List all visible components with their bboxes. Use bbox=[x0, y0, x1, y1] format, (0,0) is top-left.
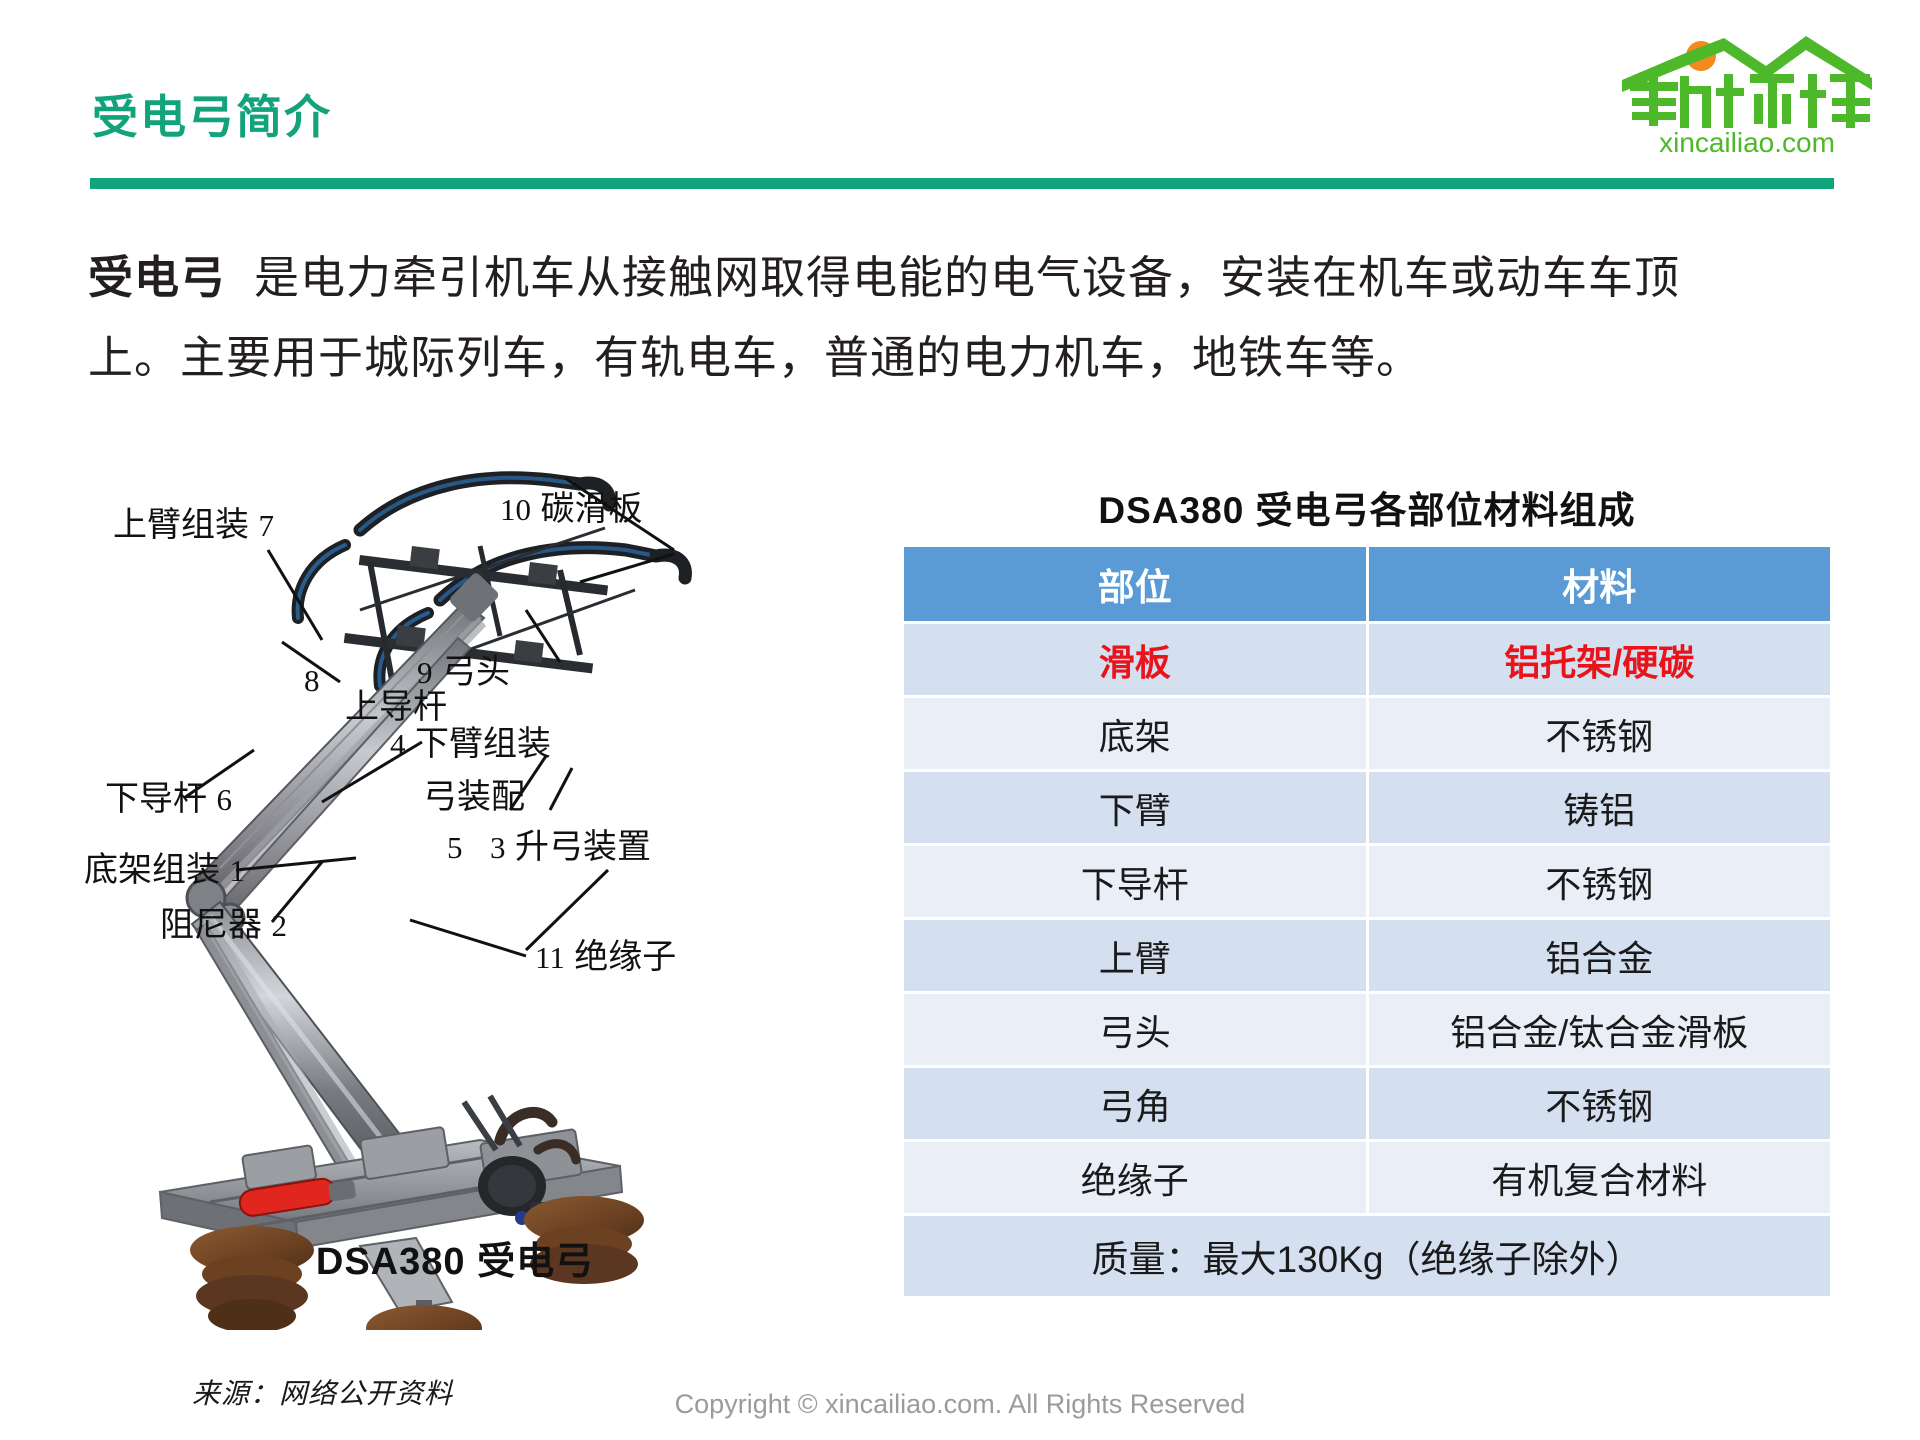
callout-bow-assembly: 弓装配 bbox=[423, 780, 525, 814]
cell-material: 铸铝 bbox=[1369, 772, 1831, 843]
cell-part: 弓头 bbox=[904, 994, 1366, 1065]
table-body: 滑板 铝托架/硬碳 底架 不锈钢 下臂 铸铝 下导杆 不锈钢 上臂 铝合金 弓头… bbox=[904, 624, 1830, 1296]
pantograph-figure: 上臂组装 7 10 碳滑板 9 弓头 8 上导杆 4 下臂组装 弓装配 5 3 … bbox=[60, 450, 870, 1330]
cell-material: 铝合金/钛合金滑板 bbox=[1369, 994, 1831, 1065]
insulator-center bbox=[366, 1300, 482, 1330]
column-header-material: 材料 bbox=[1369, 547, 1831, 621]
title-divider bbox=[90, 178, 1834, 189]
callout-damper: 阻尼器 2 bbox=[160, 908, 287, 942]
intro-body: 是电力牵引机车从接触网取得电能的电气设备，安装在机车或动车车顶上。主要用于城际列… bbox=[88, 252, 1680, 383]
callout-upper-rod-number: 8 bbox=[304, 663, 320, 697]
cell-part: 下导杆 bbox=[904, 846, 1366, 917]
cell-summary: 质量：最大130Kg（绝缘子除外） bbox=[904, 1216, 1830, 1296]
brand-logo: xincailiao.com bbox=[1616, 16, 1878, 161]
cell-material: 不锈钢 bbox=[1369, 698, 1831, 769]
table-row: 弓头 铝合金/钛合金滑板 bbox=[904, 994, 1830, 1065]
cell-material: 不锈钢 bbox=[1369, 1068, 1831, 1139]
callout-upper-rod: 上导杆 bbox=[345, 690, 447, 724]
callout-base-frame: 底架组装 1 bbox=[84, 853, 245, 887]
intro-paragraph: 受电弓是电力牵引机车从接触网取得电能的电气设备，安装在机车或动车车顶上。主要用于… bbox=[88, 238, 1768, 398]
callout-lower-arm: 4 下臂组装 bbox=[390, 727, 551, 761]
table-title: DSA380 受电弓各部位材料组成 bbox=[901, 480, 1833, 534]
table-row: 弓角 不锈钢 bbox=[904, 1068, 1830, 1139]
cell-part: 滑板 bbox=[904, 624, 1366, 695]
cell-part: 上臂 bbox=[904, 920, 1366, 991]
table-row: 上臂 铝合金 bbox=[904, 920, 1830, 991]
logo-url: xincailiao.com bbox=[1659, 127, 1835, 158]
material-composition-table: 部位 材料 滑板 铝托架/硬碳 底架 不锈钢 下臂 铸铝 下导杆 不锈钢 上臂 … bbox=[901, 544, 1833, 1299]
page-title: 受电弓简介 bbox=[92, 94, 332, 140]
cell-material: 不锈钢 bbox=[1369, 846, 1831, 917]
table-row: 下臂 铸铝 bbox=[904, 772, 1830, 843]
figure-caption: DSA380 受电弓 bbox=[60, 1230, 850, 1285]
cell-part: 底架 bbox=[904, 698, 1366, 769]
cell-part: 弓角 bbox=[904, 1068, 1366, 1139]
copyright-note: Copyright © xincailiao.com. All Rights R… bbox=[0, 1389, 1920, 1420]
callout-lower-rod: 下导杆 6 bbox=[105, 782, 232, 816]
table-row: 绝缘子 有机复合材料 bbox=[904, 1142, 1830, 1213]
callout-pantograph-head: 9 弓头 bbox=[417, 655, 510, 689]
callout-upper-arm: 上臂组装 7 bbox=[113, 508, 274, 542]
callout-raise-device: 3 升弓装置 bbox=[490, 830, 651, 864]
table-header-row: 部位 材料 bbox=[904, 547, 1830, 621]
callout-carbon-strip: 10 碳滑板 bbox=[500, 492, 642, 526]
cell-part: 下臂 bbox=[904, 772, 1366, 843]
cell-material: 铝合金 bbox=[1369, 920, 1831, 991]
column-header-part: 部位 bbox=[904, 547, 1366, 621]
cell-material: 有机复合材料 bbox=[1369, 1142, 1831, 1213]
callout-insulator: 11 绝缘子 bbox=[535, 940, 676, 974]
table-row: 底架 不锈钢 bbox=[904, 698, 1830, 769]
table-summary-row: 质量：最大130Kg（绝缘子除外） bbox=[904, 1216, 1830, 1296]
cell-part: 绝缘子 bbox=[904, 1142, 1366, 1213]
callout-bow-assembly-number: 5 bbox=[447, 830, 463, 864]
table-row: 下导杆 不锈钢 bbox=[904, 846, 1830, 917]
intro-lead: 受电弓 bbox=[88, 252, 226, 303]
cell-material: 铝托架/硬碳 bbox=[1369, 624, 1831, 695]
table-row: 滑板 铝托架/硬碳 bbox=[904, 624, 1830, 695]
logo-wordmark bbox=[1630, 74, 1870, 128]
